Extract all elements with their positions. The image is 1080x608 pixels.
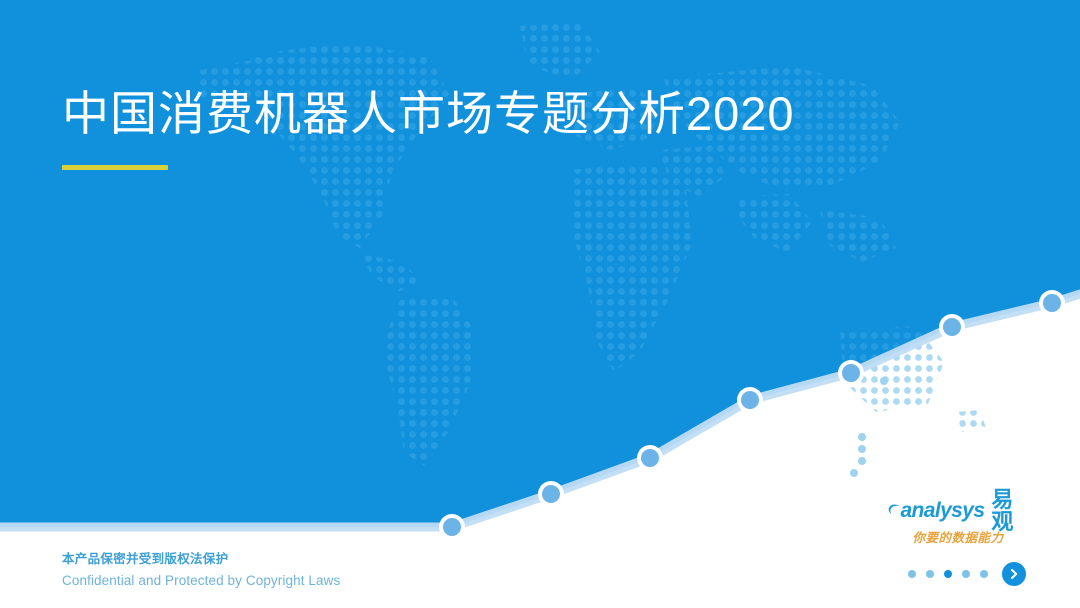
pager-dot-1[interactable]	[908, 570, 916, 578]
scatter-accent-dots	[850, 377, 888, 477]
title-accent-rule	[62, 165, 168, 170]
slide-pager[interactable]	[908, 562, 1026, 586]
pager-dot-3[interactable]	[944, 570, 952, 578]
analysys-logo: analysys 易观 你要的数据能力	[888, 498, 1028, 548]
logo-wordmark: analysys	[900, 500, 984, 521]
logo-main-row: analysys 易观	[888, 498, 1028, 523]
confidential-text-cn: 本产品保密并受到版权法保护	[62, 549, 340, 570]
pager-dot-4[interactable]	[962, 570, 970, 578]
chart-marker	[737, 387, 763, 413]
page-title: 中国消费机器人市场专题分析2020	[62, 86, 795, 141]
pager-dot-5[interactable]	[980, 570, 988, 578]
chart-marker	[538, 481, 564, 507]
footer-notice: 本产品保密并受到版权法保护 Confidential and Protected…	[62, 549, 340, 592]
next-slide-button[interactable]	[1002, 562, 1026, 586]
pager-dot-2[interactable]	[926, 570, 934, 578]
chart-marker	[1039, 290, 1065, 316]
chart-marker	[838, 360, 864, 386]
chart-marker	[439, 514, 465, 540]
presentation-slide: 中国消费机器人市场专题分析2020 本产品保密并受到版权法保护 Confiden…	[0, 0, 1080, 608]
confidential-text-en: Confidential and Protected by Copyright …	[62, 570, 340, 592]
chevron-right-icon	[1008, 568, 1020, 580]
logo-brand-cn: 易观	[991, 489, 1028, 533]
analysys-swoosh-icon	[888, 502, 900, 520]
chart-marker	[637, 445, 663, 471]
chart-marker	[939, 314, 965, 340]
